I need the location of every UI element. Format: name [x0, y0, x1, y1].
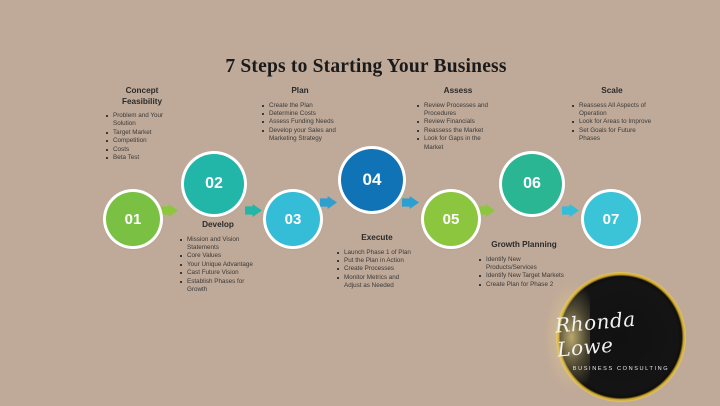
list-item: Identify New Products/Services — [479, 256, 569, 273]
step-circle-07[interactable]: 07 — [584, 192, 638, 246]
bullet-list: Problem and Your Solution Target Market … — [106, 112, 178, 162]
column-heading: Develop — [180, 220, 256, 231]
step-arrow-6 — [562, 204, 579, 217]
column-develop: Develop Mission and Vision Statements Co… — [180, 220, 256, 294]
list-item: Assess Funding Needs — [262, 118, 338, 126]
list-item: Set Goals for Future Phases — [572, 127, 652, 144]
step-circle-05[interactable]: 05 — [424, 192, 478, 246]
step-circle-01[interactable]: 01 — [106, 192, 160, 246]
bullet-list: Mission and Vision Statements Core Value… — [180, 236, 256, 295]
step-circle-03[interactable]: 03 — [266, 192, 320, 246]
list-item: Competition — [106, 137, 178, 145]
step-arrow-4 — [402, 196, 419, 209]
list-item: Create Processes — [337, 265, 417, 273]
list-item: Core Values — [180, 252, 256, 260]
column-heading: Concept Feasibility — [106, 86, 178, 107]
list-item: Cast Future Vision — [180, 269, 256, 277]
list-item: Establish Phases for Growth — [180, 278, 256, 295]
step-arrow-3 — [320, 196, 337, 209]
step-circle-06[interactable]: 06 — [502, 154, 562, 214]
list-item: Look for Gaps in the Market — [417, 135, 499, 152]
step-arrow-1 — [161, 204, 178, 217]
column-heading: Scale — [572, 86, 652, 97]
bullet-list: Create the Plan Determine Costs Assess F… — [262, 102, 338, 144]
list-item: Your Unique Advantage — [180, 261, 256, 269]
list-item: Put the Plan in Action — [337, 257, 417, 265]
list-item: Monitor Metrics and Adjust as Needed — [337, 274, 417, 291]
brand-logo: Rhonda Lowe BUSINESS CONSULTING — [556, 272, 686, 402]
column-concept-feasibility: Concept Feasibility Problem and Your Sol… — [106, 86, 178, 162]
list-item: Look for Areas to Improve — [572, 118, 652, 126]
list-item: Review Financials — [417, 118, 499, 126]
list-item: Beta Test — [106, 154, 178, 162]
bullet-list: Reassess All Aspects of Operation Look f… — [572, 102, 652, 144]
bullet-list: Review Processes and Procedures Review F… — [417, 102, 499, 152]
step-number: 07 — [603, 211, 620, 228]
step-number: 04 — [363, 170, 382, 190]
step-circle-02[interactable]: 02 — [184, 154, 244, 214]
list-item: Review Processes and Procedures — [417, 102, 499, 119]
step-number: 03 — [285, 211, 302, 228]
list-item: Launch Phase 1 of Plan — [337, 249, 417, 257]
list-item: Target Market — [106, 129, 178, 137]
step-number: 02 — [205, 175, 223, 193]
column-heading: Growth Planning — [479, 240, 569, 251]
column-scale: Scale Reassess All Aspects of Operation … — [572, 86, 652, 144]
step-number: 05 — [443, 211, 460, 228]
slide-canvas: 7 Steps to Starting Your Business Concep… — [0, 0, 720, 406]
list-item: Create the Plan — [262, 102, 338, 110]
step-circle-04[interactable]: 04 — [341, 149, 403, 211]
step-arrow-5 — [478, 204, 495, 217]
list-item: Problem and Your Solution — [106, 112, 178, 129]
list-item: Mission and Vision Statements — [180, 236, 256, 253]
bullet-list: Launch Phase 1 of Plan Put the Plan in A… — [337, 249, 417, 291]
list-item: Reassess All Aspects of Operation — [572, 102, 652, 119]
logo-name: Rhonda Lowe — [554, 302, 688, 361]
list-item: Develop your Sales and Marketing Strateg… — [262, 127, 338, 144]
column-assess: Assess Review Processes and Procedures R… — [417, 86, 499, 152]
step-arrow-2 — [245, 204, 262, 217]
list-item: Determine Costs — [262, 110, 338, 118]
list-item: Costs — [106, 146, 178, 154]
step-number: 06 — [523, 175, 541, 193]
column-heading: Execute — [337, 233, 417, 244]
column-heading: Plan — [262, 86, 338, 97]
step-number: 01 — [125, 211, 142, 228]
column-heading: Assess — [417, 86, 499, 97]
list-item: Identify New Target Markets — [479, 272, 569, 280]
page-title: 7 Steps to Starting Your Business — [44, 56, 688, 78]
column-plan: Plan Create the Plan Determine Costs Ass… — [262, 86, 338, 144]
list-item: Reassess the Market — [417, 127, 499, 135]
column-execute: Execute Launch Phase 1 of Plan Put the P… — [337, 233, 417, 291]
